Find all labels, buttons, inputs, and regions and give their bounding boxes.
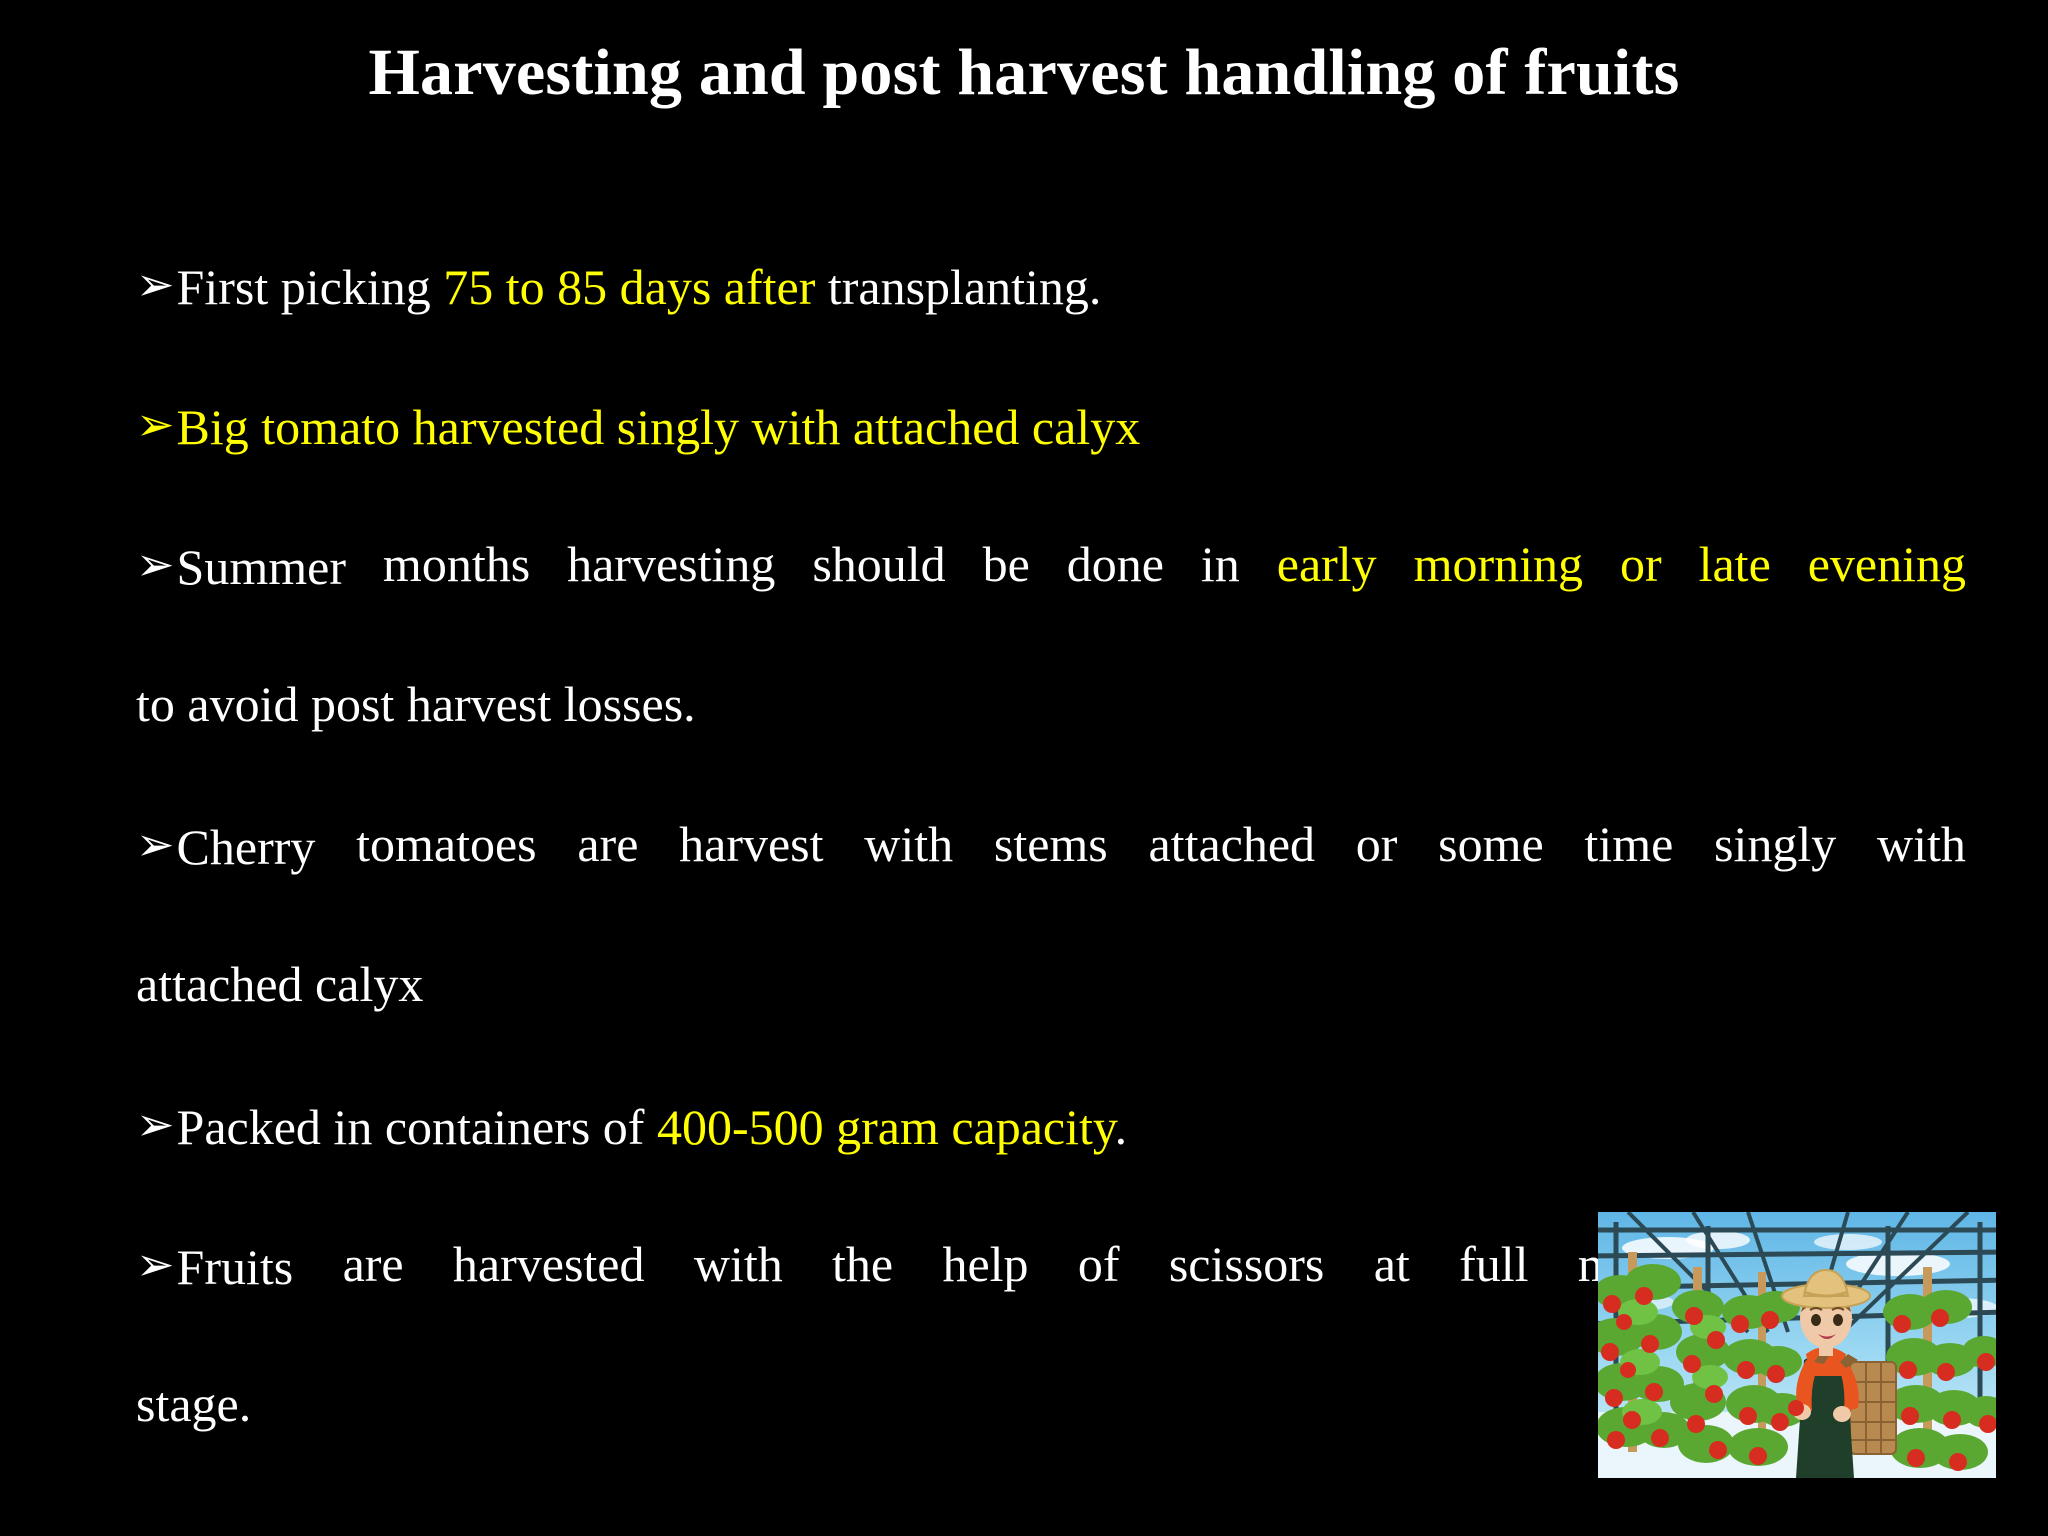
chevron-bullet-icon: ➢ (136, 214, 175, 354)
greenhouse-illustration (1598, 1212, 1996, 1478)
bullet-word: are (577, 774, 638, 914)
bullet-text-run: First picking (177, 259, 444, 315)
page-title: Harvesting and post harvest handling of … (0, 36, 2048, 110)
bullet-text-run: transplanting. (815, 259, 1101, 315)
bullet-word: done (1067, 494, 1164, 634)
bullet-text-run: Packed in containers of (177, 1099, 657, 1155)
bullet-text-run: stage. (136, 1376, 251, 1432)
bullet-line: ➢Cherrytomatoesareharvestwithstemsattach… (136, 774, 1966, 914)
bullet-text-run: attached calyx (136, 956, 423, 1012)
greenhouse-tomato-harvest-photo (1598, 1212, 1996, 1478)
bullet-cherry-tomatoes: ➢Cherrytomatoesareharvestwithstemsattach… (136, 774, 1966, 1054)
bullet-line: attached calyx (136, 914, 1966, 1054)
chevron-bullet-icon: ➢ (136, 1054, 175, 1194)
bullet-text-run: . (1115, 1099, 1128, 1155)
bullet-word: harvested (453, 1194, 645, 1334)
bullet-word: early (1277, 494, 1377, 634)
bullet-word: morning (1414, 494, 1583, 634)
bullet-word: of (1078, 1194, 1120, 1334)
bullet-word: ➢Fruits (136, 1194, 293, 1334)
bullet-word: be (983, 494, 1030, 634)
bullet-text-run: 400-500 gram capacity (657, 1099, 1115, 1155)
bullet-word: in (1201, 494, 1240, 634)
bullet-word: attached (1148, 774, 1315, 914)
bullet-word: are (343, 1194, 404, 1334)
bullet-line: ➢Big tomato harvested singly with attach… (136, 354, 1966, 494)
bullet-word: with (694, 1194, 783, 1334)
bullet-word: full (1459, 1194, 1528, 1334)
chevron-bullet-icon: ➢ (136, 494, 175, 634)
bullet-word: late (1699, 494, 1771, 634)
bullet-packed-containers: ➢Packed in containers of 400-500 gram ca… (136, 1054, 1966, 1194)
bullet-word: with (1877, 774, 1966, 914)
bullet-line: to avoid post harvest losses. (136, 634, 1966, 774)
bullet-line: ➢Summermonthsharvestingshouldbedoneinear… (136, 494, 1966, 634)
bullet-word: at (1374, 1194, 1410, 1334)
bullet-word: evening (1808, 494, 1966, 634)
bullet-word: singly (1714, 774, 1836, 914)
bullet-word: help (942, 1194, 1028, 1334)
bullet-big-tomato: ➢Big tomato harvested singly with attach… (136, 354, 1966, 494)
bullet-word: stems (994, 774, 1108, 914)
chevron-bullet-icon: ➢ (136, 1194, 175, 1334)
slide-root: Harvesting and post harvest handling of … (0, 0, 2048, 1536)
bullet-text-run: Big tomato harvested singly with attache… (177, 399, 1141, 455)
bullet-text-run: to avoid post harvest losses. (136, 676, 696, 732)
chevron-bullet-icon: ➢ (136, 354, 175, 494)
bullet-word: ➢Cherry (136, 774, 315, 914)
bullet-text-run: 75 to 85 days after (443, 259, 815, 315)
bullet-word: scissors (1169, 1194, 1325, 1334)
bullet-word: harvest (679, 774, 823, 914)
bullet-word: some (1438, 774, 1544, 914)
bullet-word: or (1620, 494, 1662, 634)
bullet-first-picking: ➢First picking 75 to 85 days after trans… (136, 214, 1966, 354)
bullet-word: ➢Summer (136, 494, 346, 634)
bullet-word: the (832, 1194, 893, 1334)
bullet-word: months (383, 494, 530, 634)
bullet-line: ➢First picking 75 to 85 days after trans… (136, 214, 1966, 354)
bullet-word: with (864, 774, 953, 914)
bullet-line: ➢Packed in containers of 400-500 gram ca… (136, 1054, 1966, 1194)
bullet-word: harvesting (567, 494, 775, 634)
bullet-word: or (1356, 774, 1398, 914)
bullet-summer-months: ➢Summermonthsharvestingshouldbedoneinear… (136, 494, 1966, 774)
bullet-word: tomatoes (356, 774, 537, 914)
chevron-bullet-icon: ➢ (136, 774, 175, 914)
bullet-word: should (812, 494, 945, 634)
bullet-word: time (1584, 774, 1673, 914)
